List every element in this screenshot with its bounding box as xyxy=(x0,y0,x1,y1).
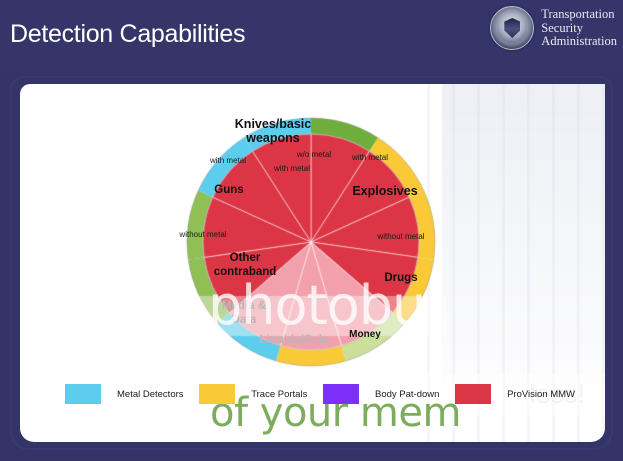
chart-legend: Metal Detectors Trace Portals Body Pat-d… xyxy=(65,382,575,406)
slide-header: Detection Capabilities Transportation Se… xyxy=(0,0,623,72)
tsa-line-1: Transportation xyxy=(541,8,617,22)
label-knives-line2: weapons xyxy=(213,132,333,145)
tsa-logo-text: Transportation Security Administration xyxy=(541,6,617,49)
dhs-seal-icon xyxy=(490,6,534,50)
label-guns-with-metal: with metal xyxy=(197,154,259,167)
content-panel: less! Knives/basic weapons w/o metal wit… xyxy=(20,84,605,442)
label-guns: Guns xyxy=(203,184,255,197)
presentation-slide: Detection Capabilities Transportation Se… xyxy=(0,0,623,461)
tsa-logo: Transportation Security Administration xyxy=(490,6,617,50)
legend-item-metal-detectors: Metal Detectors xyxy=(65,384,184,404)
label-other-line2: contraband xyxy=(197,266,293,279)
detection-capabilities-pie-chart: Knives/basic weapons w/o metal with meta… xyxy=(175,106,447,378)
legend-swatch-provision-mmw xyxy=(455,384,491,404)
label-media-line2: Data xyxy=(209,314,279,327)
legend-label-metal-detectors: Metal Detectors xyxy=(117,389,184,400)
label-guns-without-metal: without metal xyxy=(167,228,239,241)
tsa-line-3: Administration xyxy=(541,35,617,49)
tsa-line-2: Security xyxy=(541,22,617,36)
label-liquids-gels: Liquids/Gels xyxy=(249,334,339,347)
legend-swatch-metal-detectors xyxy=(65,384,101,404)
label-explosives: Explosives xyxy=(335,185,435,198)
legend-label-provision-mmw: ProVision MMW xyxy=(507,389,575,400)
label-knives-with-metal: with metal xyxy=(261,162,323,175)
label-money: Money xyxy=(335,328,395,341)
legend-item-trace-portals: Trace Portals xyxy=(199,384,307,404)
slide-body: less! Knives/basic weapons w/o metal wit… xyxy=(10,76,613,450)
legend-item-provision-mmw: ProVision MMW xyxy=(455,384,575,404)
label-other-line1: Other xyxy=(210,252,280,265)
label-explosives-with-metal: with metal xyxy=(339,151,401,164)
legend-label-body-pat-down: Body Pat-down xyxy=(375,389,439,400)
legend-item-body-pat-down: Body Pat-down xyxy=(323,384,439,404)
label-knives-line1: Knives/basic xyxy=(213,118,333,131)
label-explosives-without-metal: without metal xyxy=(365,230,437,243)
label-drugs: Drugs xyxy=(373,272,429,285)
background-image-fade xyxy=(442,84,605,384)
label-knives-wo-metal: w/o metal xyxy=(283,148,345,161)
label-media-line1: Media & xyxy=(209,300,279,313)
page-title: Detection Capabilities xyxy=(10,20,245,49)
legend-swatch-body-pat-down xyxy=(323,384,359,404)
legend-label-trace-portals: Trace Portals xyxy=(251,389,307,400)
legend-swatch-trace-portals xyxy=(199,384,235,404)
